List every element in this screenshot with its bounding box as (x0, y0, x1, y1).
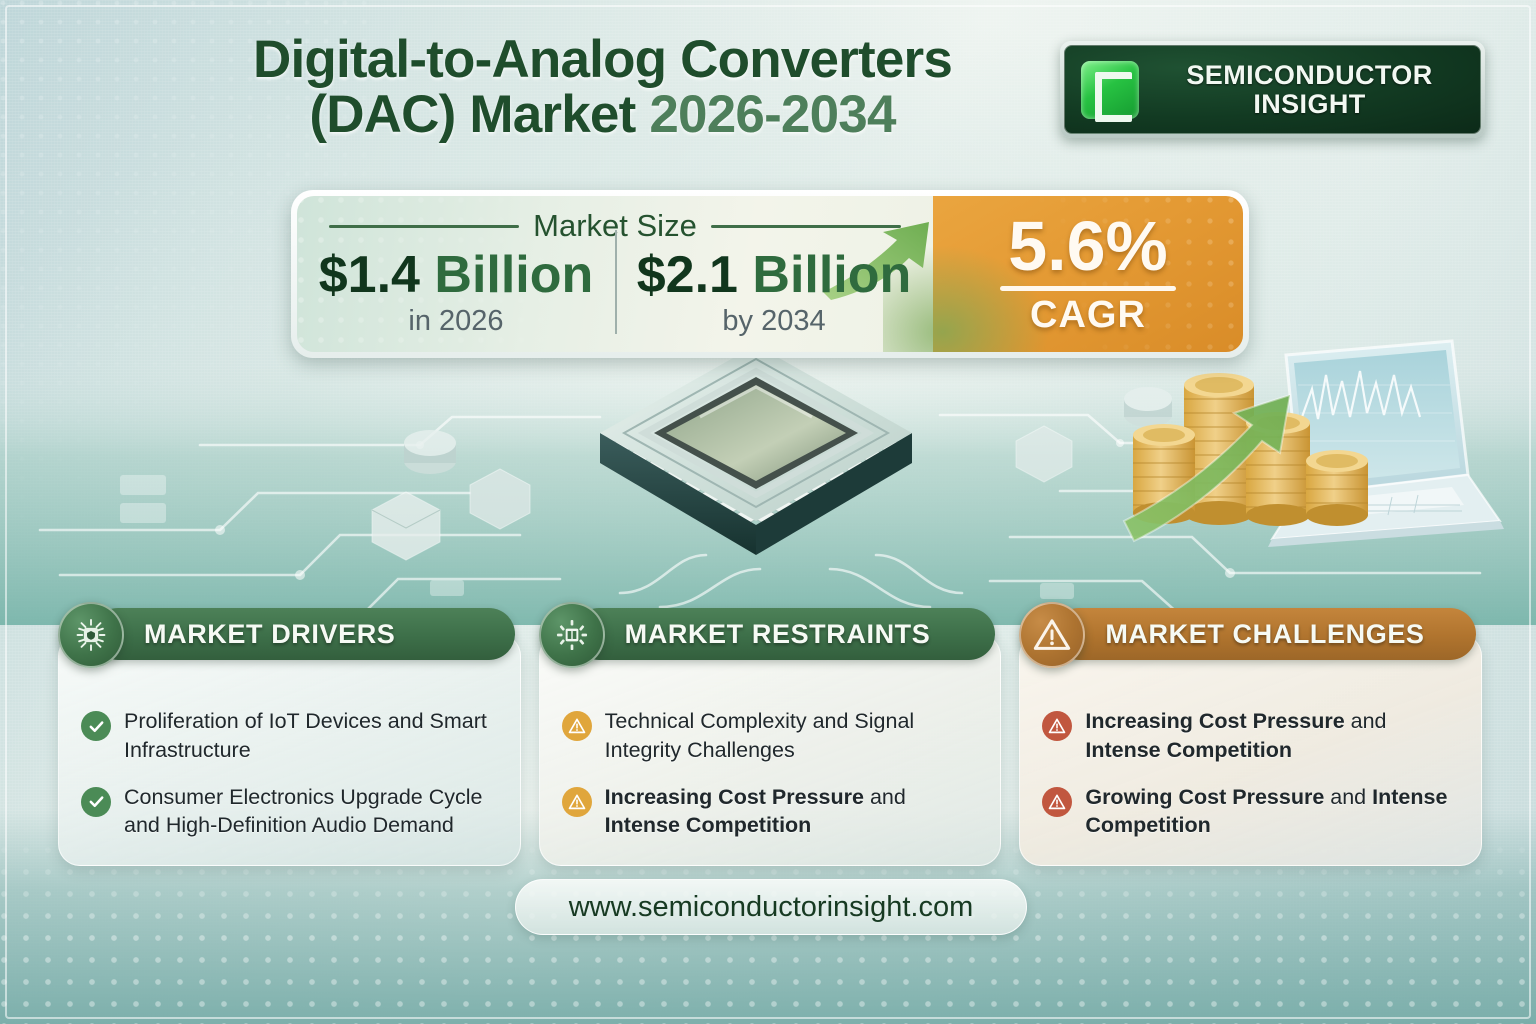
forecast-value-year: by 2034 (722, 305, 825, 338)
cagr-value: 5.6% (1008, 211, 1168, 281)
list-item-text: Proliferation of IoT Devices and Smart I… (124, 707, 506, 765)
restraints-bullet-list: Technical Complexity and Signal Integrit… (562, 707, 987, 857)
check-icon (81, 711, 111, 741)
chip-pins-icon (539, 602, 605, 668)
card-heading: MARKET RESTRAINTS (625, 619, 931, 650)
brand-logo[interactable]: SEMICONDUCTOR INSIGHT (1060, 41, 1485, 138)
list-item-mid: and (1324, 785, 1372, 809)
market-size-band: Market Size $1.4 Billion in 2026 $2.1 Bi… (291, 190, 1249, 358)
current-value-number: $1.4 (319, 246, 435, 304)
logo-c-mark-icon (1081, 61, 1139, 119)
card-body: Increasing Cost Pressure and Intense Com… (1019, 634, 1482, 866)
card-header: MARKET RESTRAINTS (573, 608, 996, 660)
infographic-canvas: Digital-to-Analog Converters (DAC) Marke… (0, 0, 1536, 1024)
warning-triangle-icon (562, 787, 592, 817)
current-value-unit: Billion (434, 246, 593, 304)
list-item-bold-2: Intense Competition (1085, 738, 1292, 762)
check-icon (81, 787, 111, 817)
list-item-text: Increasing Cost Pressure and Intense Com… (1085, 707, 1467, 765)
list-item: Increasing Cost Pressure and Intense Com… (1042, 707, 1467, 765)
chip-shield-icon (58, 602, 124, 668)
page-title: Digital-to-Analog Converters (DAC) Marke… (150, 32, 1055, 142)
footer-url: www.semiconductorinsight.com (569, 891, 974, 924)
title-line-2-main: (DAC) Market (309, 85, 649, 144)
current-value: $1.4 Billion (319, 249, 594, 301)
market-size-current: $1.4 Billion in 2026 (297, 196, 615, 352)
card-body: Technical Complexity and Signal Integrit… (539, 634, 1002, 866)
list-item-bold-1: Increasing Cost Pressure (605, 785, 864, 809)
list-item: Technical Complexity and Signal Integrit… (562, 707, 987, 765)
warning-triangle-icon (1019, 602, 1085, 668)
warning-triangle-icon (1042, 787, 1072, 817)
brand-logo-text: SEMICONDUCTOR INSIGHT (1155, 61, 1464, 118)
list-item-bold-1: Increasing Cost Pressure (1085, 709, 1344, 733)
card-market-challenges[interactable]: Increasing Cost Pressure and Intense Com… (1019, 608, 1482, 866)
market-size-forecast: $2.1 Billion by 2034 (615, 196, 933, 352)
drivers-bullet-list: Proliferation of IoT Devices and Smart I… (81, 707, 506, 857)
footer-url-pill[interactable]: www.semiconductorinsight.com (515, 879, 1027, 935)
list-item-text: Technical Complexity and Signal Integrit… (605, 707, 987, 765)
list-item: Consumer Electronics Upgrade Cycle and H… (81, 783, 506, 841)
list-item-text: Consumer Electronics Upgrade Cycle and H… (124, 783, 506, 841)
list-item-mid: and (1345, 709, 1387, 733)
card-heading: MARKET CHALLENGES (1105, 619, 1424, 650)
list-item: Increasing Cost Pressure and Intense Com… (562, 783, 987, 841)
value-divider (615, 230, 617, 334)
list-item-text: Increasing Cost Pressure and Intense Com… (605, 783, 987, 841)
current-value-year: in 2026 (408, 305, 503, 338)
cagr-rule (1000, 286, 1176, 291)
title-line-2: (DAC) Market 2026-2034 (150, 87, 1055, 142)
title-line-1: Digital-to-Analog Converters (253, 30, 952, 89)
list-item-bold-1: Growing Cost Pressure (1085, 785, 1324, 809)
list-item-text: Growing Cost Pressure and Intense Compet… (1085, 783, 1467, 841)
brand-name-line-2: INSIGHT (1155, 90, 1464, 119)
list-item: Growing Cost Pressure and Intense Compet… (1042, 783, 1467, 841)
forecast-value: $2.1 Billion (637, 249, 912, 301)
market-size-band-inner: Market Size $1.4 Billion in 2026 $2.1 Bi… (297, 196, 1243, 352)
card-market-drivers[interactable]: Proliferation of IoT Devices and Smart I… (58, 608, 521, 866)
cagr-panel: 5.6% CAGR (933, 196, 1243, 352)
cagr-label: CAGR (1030, 294, 1146, 337)
card-header: MARKET DRIVERS (92, 608, 515, 660)
forecast-value-unit: Billion (752, 246, 911, 304)
list-item-mid: and (864, 785, 906, 809)
market-size-values-panel: Market Size $1.4 Billion in 2026 $2.1 Bi… (297, 196, 933, 352)
cards-row: Proliferation of IoT Devices and Smart I… (58, 608, 1482, 866)
brand-name-line-1: SEMICONDUCTOR (1186, 60, 1432, 90)
card-body: Proliferation of IoT Devices and Smart I… (58, 634, 521, 866)
challenges-bullet-list: Increasing Cost Pressure and Intense Com… (1042, 707, 1467, 857)
title-years: 2026-2034 (649, 85, 895, 144)
forecast-value-number: $2.1 (637, 246, 753, 304)
warning-triangle-icon (1042, 711, 1072, 741)
brand-logo-inner: SEMICONDUCTOR INSIGHT (1064, 45, 1481, 134)
card-header: MARKET CHALLENGES (1053, 608, 1476, 660)
list-item-bold-2: Intense Competition (605, 813, 812, 837)
warning-triangle-icon (562, 711, 592, 741)
card-heading: MARKET DRIVERS (144, 619, 395, 650)
list-item: Proliferation of IoT Devices and Smart I… (81, 707, 506, 765)
card-market-restraints[interactable]: Technical Complexity and Signal Integrit… (539, 608, 1002, 866)
